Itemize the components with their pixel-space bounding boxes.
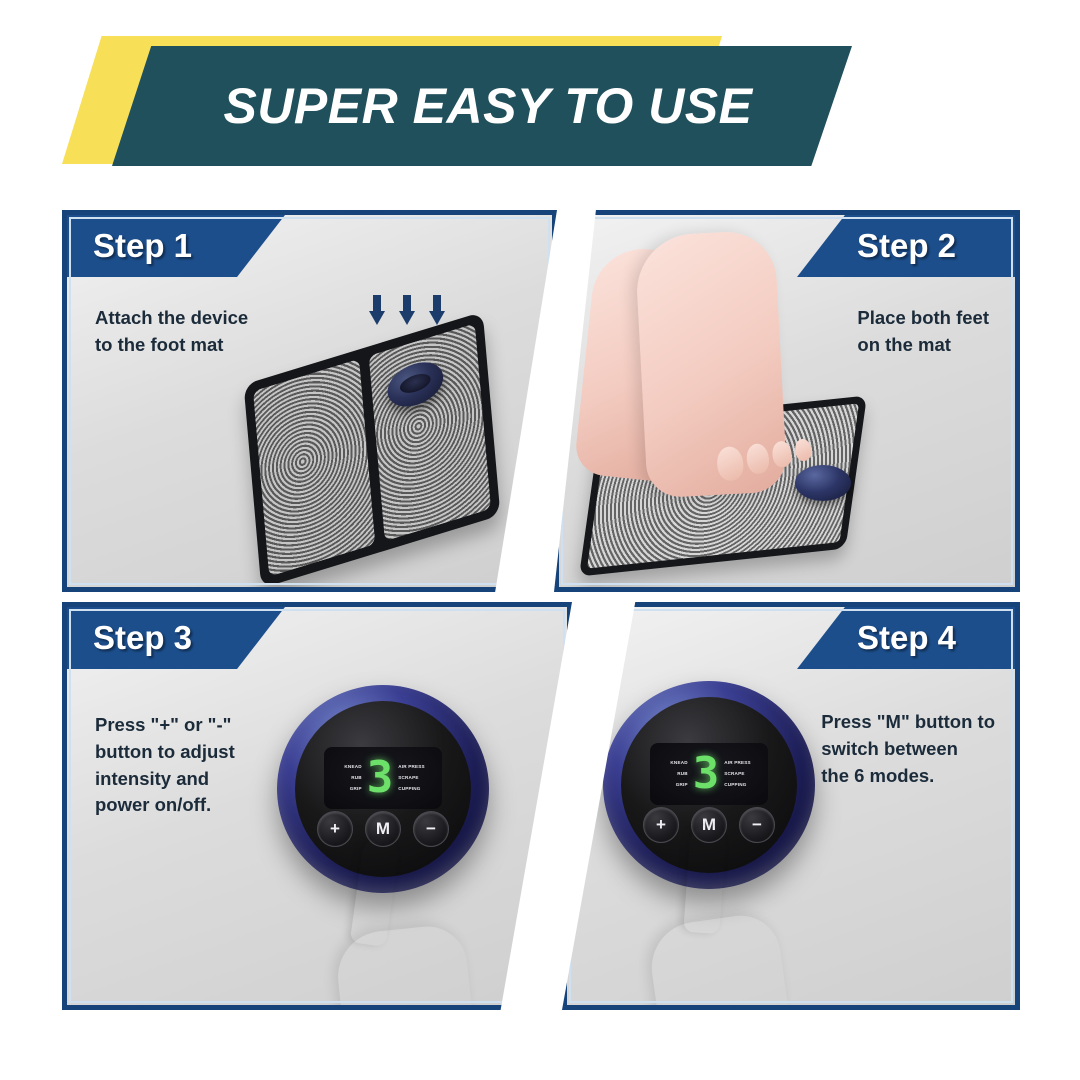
- step-tab-label: Step 2: [857, 227, 956, 265]
- display-label: RUB: [351, 775, 362, 780]
- foot-mat-illustration: [217, 295, 557, 592]
- step-caption-1: Attach the device to the foot mat: [95, 305, 248, 359]
- device-closeup-3: KNEAD RUB GRIP 3 AIR PRESS SCRAPE CUPPIN…: [263, 669, 563, 1010]
- minus-button[interactable]: −: [413, 811, 449, 847]
- foot-mat-body: [244, 312, 501, 589]
- display-label: CUPPING: [398, 786, 420, 791]
- step-tab-label: Step 1: [93, 227, 192, 265]
- step-tab-label: Step 4: [857, 619, 956, 657]
- display-intensity-value: 3: [367, 757, 394, 799]
- hand-palm: [646, 910, 790, 1010]
- arrow-down-icon: [429, 295, 445, 327]
- toe: [745, 443, 770, 475]
- step-caption-4: Press "M" button to switch between the 6…: [821, 709, 995, 789]
- display-label: GRIP: [350, 786, 362, 791]
- step-tab-3: Step 3: [67, 607, 285, 669]
- display-label: GRIP: [676, 782, 688, 787]
- display-labels-right: AIR PRESS SCRAPE CUPPING: [398, 764, 434, 791]
- step-tab-4: Step 4: [797, 607, 1015, 669]
- step-caption-2: Place both feet on the mat: [857, 305, 989, 359]
- foot-mat-pad-right: [369, 323, 491, 541]
- display-label: AIR PRESS: [724, 760, 751, 765]
- step-panel-2: Step 2 Place both feet on the mat: [554, 210, 1020, 592]
- toe: [794, 438, 812, 462]
- steps-grid: Step 1 Attach the device to the foot mat: [62, 210, 1020, 1010]
- step-tab-label: Step 3: [93, 619, 192, 657]
- plus-button[interactable]: +: [643, 807, 679, 843]
- toe: [771, 440, 793, 468]
- header-banner: SUPER EASY TO USE: [0, 0, 1080, 190]
- infographic-root: SUPER EASY TO USE Step 1 Attach the devi…: [0, 0, 1080, 1080]
- display-label: RUB: [677, 771, 688, 776]
- display-label: KNEAD: [344, 764, 361, 769]
- step-tab-1: Step 1: [67, 215, 285, 277]
- display-labels-left: KNEAD RUB GRIP: [658, 760, 688, 787]
- toe: [715, 445, 744, 482]
- step-panel-4: Step 4 Press "M" button to switch betwee…: [562, 602, 1020, 1010]
- minus-button[interactable]: −: [739, 807, 775, 843]
- step-panel-1: Step 1 Attach the device to the foot mat: [62, 210, 557, 592]
- display-label: KNEAD: [670, 760, 687, 765]
- plus-button[interactable]: +: [317, 811, 353, 847]
- display-labels-right: AIR PRESS SCRAPE CUPPING: [724, 760, 760, 787]
- step-caption-3: Press "+" or "-" button to adjust intens…: [95, 712, 235, 819]
- page-title: SUPER EASY TO USE: [223, 77, 752, 135]
- step-panel-3: Step 3 Press "+" or "-" button to adjust…: [62, 602, 572, 1010]
- display-label: SCRAPE: [724, 771, 744, 776]
- display-label: SCRAPE: [398, 775, 418, 780]
- arrow-down-icon: [369, 295, 385, 327]
- foot-mat-pad-left: [253, 359, 375, 577]
- display-label: CUPPING: [724, 782, 746, 787]
- device-display: KNEAD RUB GRIP 3 AIR PRESS SCRAPE CUPPIN…: [324, 747, 442, 809]
- arrow-down-icon: [399, 295, 415, 327]
- device-display: KNEAD RUB GRIP 3 AIR PRESS SCRAPE CUPPIN…: [650, 743, 768, 805]
- banner-teal-shape: SUPER EASY TO USE: [112, 46, 852, 166]
- down-arrows-group: [369, 295, 445, 327]
- display-label: AIR PRESS: [398, 764, 425, 769]
- display-labels-left: KNEAD RUB GRIP: [332, 764, 362, 791]
- display-intensity-value: 3: [693, 753, 720, 795]
